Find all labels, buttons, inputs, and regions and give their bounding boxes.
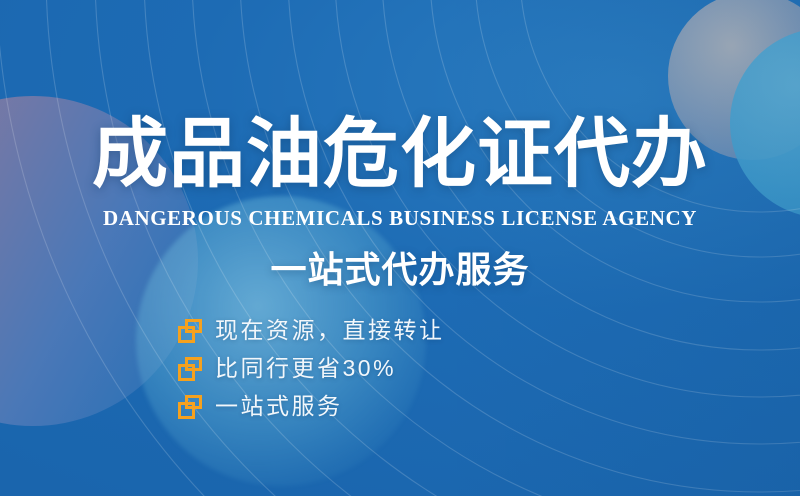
feature-item: 一站式服务 [178, 392, 445, 421]
feature-item: 现在资源，直接转让 [178, 316, 445, 345]
banner-content: 成品油危化证代办 DANGEROUS CHEMICALS BUSINESS LI… [0, 0, 800, 496]
banner-headline: 成品油危化证代办 [0, 112, 800, 198]
feature-label: 比同行更省30% [215, 354, 396, 383]
feature-label: 现在资源，直接转让 [215, 316, 445, 345]
promo-banner: 成品油危化证代办 DANGEROUS CHEMICALS BUSINESS LI… [0, 0, 800, 496]
overlapping-squares-icon [178, 319, 202, 343]
feature-item: 比同行更省30% [178, 354, 445, 383]
banner-secondary-headline: 一站式代办服务 [0, 248, 800, 292]
overlapping-squares-icon [178, 395, 202, 419]
overlapping-squares-icon [178, 357, 202, 381]
banner-subtitle-english: DANGEROUS CHEMICALS BUSINESS LICENSE AGE… [0, 205, 800, 231]
feature-list: 现在资源，直接转让 比同行更省30% 一站式 [178, 316, 445, 421]
feature-label: 一站式服务 [215, 392, 343, 421]
